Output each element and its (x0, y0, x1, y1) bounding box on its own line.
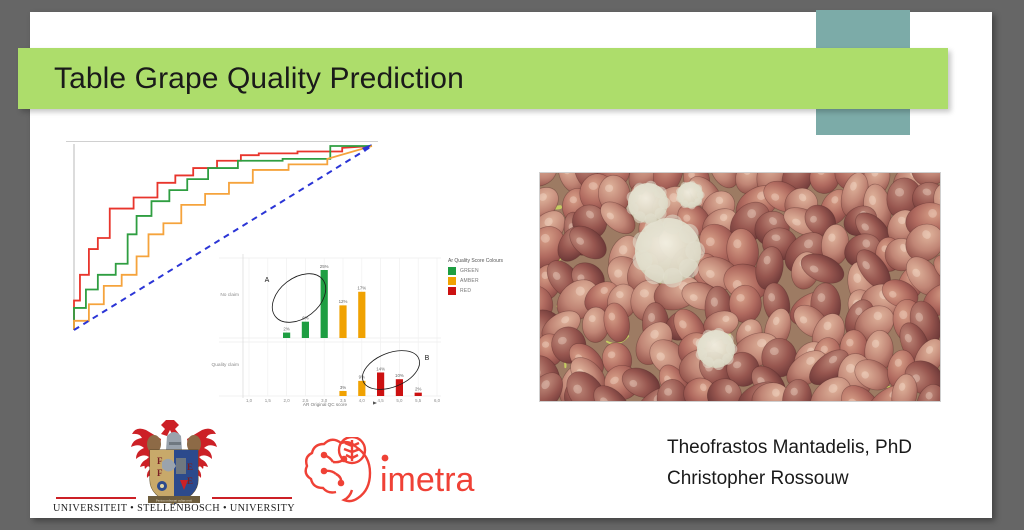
crest-letter-e2: E (187, 476, 193, 486)
author-list: Theofrastos Mantadelis, PhD Christopher … (667, 432, 997, 494)
chart-legend: Ar Quality Score Colours GREENAMBERRED (448, 258, 540, 297)
photo-mould-1-edge-2 (645, 213, 657, 225)
crest-motto-scroll: Pectora roborant cultus recti (148, 496, 200, 503)
bar-0-0 (283, 333, 290, 338)
bar-value-label-0-0: 2% (283, 326, 289, 331)
bar-annotation-label-B: B (425, 355, 430, 362)
bar-x-tick-9: 5,5 (415, 398, 422, 403)
bar-value-label-1-3: 10% (395, 373, 404, 378)
photo-mould-2-edge-8 (722, 333, 733, 344)
bar-1-3 (396, 379, 403, 396)
bar-0-4 (358, 292, 365, 338)
imetra-brain-leaf-icon (306, 437, 370, 501)
crest-letter-f2: F (157, 468, 163, 478)
photo-mould-3-edge-6 (681, 182, 689, 190)
imetra-logo: imetra (302, 437, 482, 509)
legend-swatch-green (448, 267, 456, 275)
crest-helmet-icon (166, 432, 182, 450)
bar-x-axis-label: AR Original QC score (303, 402, 348, 407)
slide-root: Table Grape Quality Prediction No claimQ… (0, 0, 1024, 530)
photo-mould-3-edge-2 (688, 202, 696, 210)
photo-mould-3-edge-8 (694, 184, 702, 192)
photo-mould-0-edge-0 (685, 241, 705, 261)
bar-annotation-label-A: A (265, 277, 270, 284)
photo-grape-highlight-158 (664, 388, 672, 396)
photo-mould-2-edge-4 (696, 349, 707, 360)
bar-value-label-1-4: 2% (415, 386, 421, 391)
imetra-wordmark: imetra (380, 461, 475, 499)
legend-label-red: RED (460, 288, 471, 294)
stellenbosch-logo-svg: F F E E Pectora roborant cultus recti UN… (50, 414, 298, 514)
crest-letter-e1: E (187, 462, 193, 472)
bar-x-tick-8: 5,0 (396, 398, 403, 403)
bar-x-tick-1: 1,5 (265, 398, 272, 403)
stellenbosch-university-logo: F F E E Pectora roborant cultus recti UN… (50, 414, 298, 514)
photo-mould-3-edge-0 (697, 191, 705, 199)
legend-label-amber: AMBER (460, 278, 479, 284)
legend-swatch-amber (448, 277, 456, 285)
bar-0-3 (339, 305, 346, 338)
bar-x-tick-10: 6,0 (434, 398, 441, 403)
photo-mould-0-edge-8 (679, 224, 699, 244)
page-title: Table Grape Quality Prediction (54, 62, 464, 96)
crest-motto-text: Pectora roborant cultus recti (156, 499, 192, 503)
bar-x-tick-6: 4,0 (359, 398, 366, 403)
photo-mould-1-edge-4 (627, 203, 639, 215)
bar-row-label-1: Quality claim (212, 362, 239, 368)
photo-mould-1-edge-0 (658, 197, 670, 209)
photo-mould-2-edge-2 (713, 359, 724, 370)
legend-rows: GREENAMBERRED (448, 267, 540, 295)
photo-mould-0-edge-2 (663, 268, 683, 288)
photo-mould-1-edge-6 (634, 183, 646, 195)
bar-bars-group: 2%6%25%12%17%3%9%14%10%2% (283, 264, 422, 396)
qc-score-distribution-chart: No claimQuality claim 2%6%25%12%17%3%9%1… (205, 250, 445, 410)
bar-0-2 (321, 270, 328, 338)
legend-item-red: RED (448, 287, 540, 295)
bar-row-labels-group: No claimQuality claim (212, 292, 239, 368)
photo-mould-2-edge-0 (726, 343, 737, 354)
bar-x-tick-0: 1,0 (246, 398, 253, 403)
bar-1-0 (339, 391, 346, 396)
photo-mould-3-edge-4 (676, 195, 684, 203)
bar-value-label-1-2: 14% (376, 366, 385, 371)
author-name-2: Christopher Rossouw (667, 463, 997, 494)
bar-value-label-0-2: 25% (320, 264, 329, 269)
legend-title: Ar Quality Score Colours (448, 258, 540, 264)
bar-x-tick-2: 2,0 (284, 398, 291, 403)
legend-item-green: GREEN (448, 267, 540, 275)
bar-x-axis-arrow-icon (373, 401, 377, 404)
legend-swatch-red (448, 287, 456, 295)
imetra-logo-svg: imetra (302, 437, 482, 509)
bar-value-label-0-3: 12% (339, 299, 348, 304)
photo-mould-1-edge-8 (655, 187, 667, 199)
photo-mould-0-edge-4 (633, 250, 653, 270)
author-name-1: Theofrastos Mantadelis, PhD (667, 432, 997, 463)
grape-photo (539, 172, 941, 402)
bar-1-4 (415, 393, 422, 396)
bar-0-1 (302, 322, 309, 338)
photo-mould-2-edge-6 (703, 330, 714, 341)
legend-label-green: GREEN (460, 268, 479, 274)
bar-value-label-1-1: 9% (359, 375, 365, 380)
bar-row-label-0: No claim (220, 292, 239, 298)
bar-grid-group (219, 254, 441, 398)
stellenbosch-logo-caption: UNIVERSITEIT • STELLENBOSCH • UNIVERSITY (53, 503, 295, 514)
qc-score-distribution-svg: No claimQuality claim 2%6%25%12%17%3%9%1… (205, 250, 445, 410)
legend-item-amber: AMBER (448, 277, 540, 285)
grape-photo-svg (540, 173, 940, 401)
bar-value-label-1-0: 3% (340, 385, 346, 390)
bar-value-label-0-4: 17% (357, 286, 366, 291)
bar-1-2 (377, 372, 384, 396)
photo-grapes-group (540, 173, 940, 401)
title-band: Table Grape Quality Prediction (18, 48, 948, 109)
crest-shield-icon: F F E E (150, 450, 198, 504)
crest-letter-f1: F (157, 456, 163, 466)
bar-x-tick-7: 4,5 (378, 398, 385, 403)
